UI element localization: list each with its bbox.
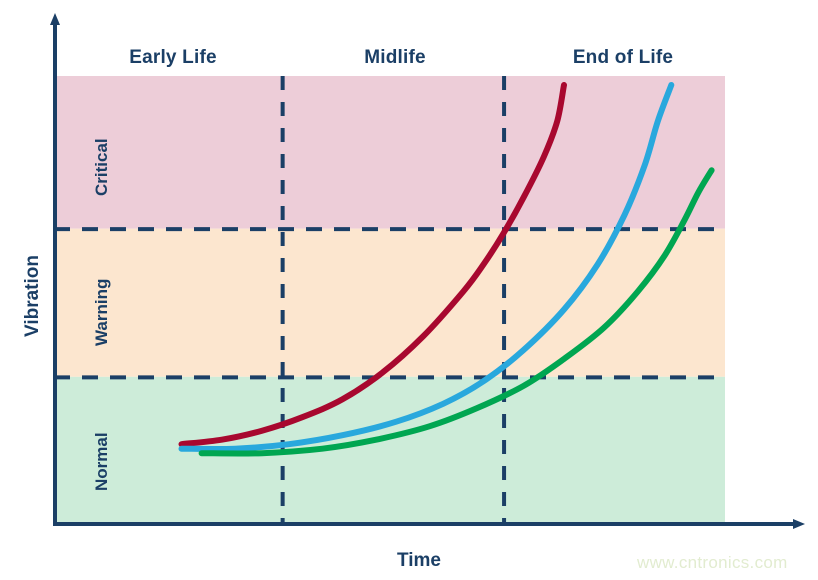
phase-label-early-life: Early Life: [108, 47, 238, 69]
zone-band-critical: [54, 76, 725, 229]
phase-label-end-of-life: End of Life: [548, 47, 698, 69]
y-axis-title: Vibration: [22, 255, 44, 337]
zone-band-normal: [54, 377, 725, 525]
watermark-text: www.cntronics.com: [637, 553, 788, 573]
zone-label-normal: Normal: [92, 432, 112, 491]
vibration-degradation-chart: [0, 0, 818, 580]
x-axis-title: Time: [397, 550, 441, 572]
chart-canvas: Early Life Midlife End of Life Critical …: [0, 0, 818, 580]
phase-label-midlife: Midlife: [330, 47, 460, 69]
zone-label-warning: Warning: [92, 279, 112, 346]
zone-label-critical: Critical: [92, 138, 112, 196]
